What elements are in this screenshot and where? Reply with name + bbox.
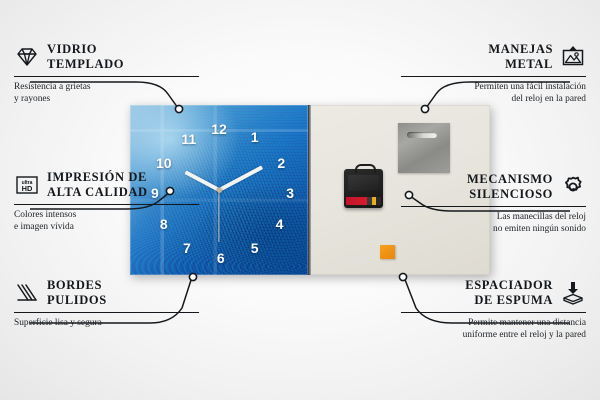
hanger-slot [407,132,437,138]
callout-description: Superficie lisa y segura [14,317,199,329]
desc-line-1: Resistencia a grietas [14,82,91,92]
callout-title: BORDES PULIDOS [47,278,107,308]
infographic-stage: 12 1 2 3 4 5 6 7 8 9 10 11 [0,0,600,400]
title-line-2: SILENCIOSO [469,187,553,201]
callout-rule [401,206,586,207]
desc-line-1: Superficie lisa y segura [14,318,102,328]
desc-line-1: Las manecillas del reloj [497,212,586,222]
clock-numeral-6: 6 [217,251,225,265]
title-line-1: IMPRESIÓN DE [47,170,147,184]
callout-espaciador-de-espuma: ESPACIADOR DE ESPUMA Permite mantener un… [401,278,586,341]
clock-numeral-5: 5 [251,241,259,255]
panel-seam [308,105,311,275]
callout-description: Permite mantener una distancia uniforme … [401,317,586,341]
title-line-2: METAL [505,57,553,71]
mechanism-hanging-loop [355,164,376,173]
callout-rule [14,312,199,313]
callout-impresion-alta-calidad: ultra HD IMPRESIÓN DE ALTA CALIDAD Color… [14,170,199,233]
title-line-1: MECANISMO [467,172,553,186]
clock-numeral-7: 7 [183,241,191,255]
clock-numeral-1: 1 [251,130,259,144]
title-line-1: ESPACIADOR [465,278,553,292]
desc-line-2: y rayones [14,94,50,104]
title-line-1: MANEJAS [488,42,553,56]
title-line-1: VIDRIO [47,42,97,56]
foam-spacer-icon [560,280,586,306]
desc-line-1: Permite mantener una distancia [468,318,586,328]
callout-title: IMPRESIÓN DE ALTA CALIDAD [47,170,148,200]
clock-mechanism [344,169,383,208]
callout-description: Resistencia a grietas y rayones [14,81,199,105]
desc-line-2: e imagen vívida [14,222,74,232]
clock-numeral-2: 2 [277,156,285,170]
picture-frame-icon [560,44,586,70]
callout-title: MECANISMO SILENCIOSO [467,172,553,202]
title-line-2: TEMPLADO [47,57,124,71]
callout-rule [14,76,199,77]
ultra-hd-icon: ultra HD [14,172,40,198]
clock-numeral-12: 12 [211,122,227,136]
svg-text:HD: HD [22,184,33,193]
callout-manejas-metal: MANEJAS METAL Permiten una fácil instala… [401,42,586,105]
desc-line-2: uniforme entre el reloj y la pared [463,330,586,340]
callout-bordes-pulidos: BORDES PULIDOS Superficie lisa y segura [14,278,199,329]
callout-rule [14,204,199,205]
clock-center-hub [217,188,222,193]
metal-hanger-plate [398,123,450,173]
desc-line-2: del reloj en la pared [512,94,586,104]
title-line-2: DE ESPUMA [474,293,553,307]
title-line-2: ALTA CALIDAD [47,185,148,199]
callout-description: Permiten una fácil instalación del reloj… [401,81,586,105]
polished-edges-icon [14,280,40,306]
callout-rule [401,76,586,77]
desc-line-1: Permiten una fácil instalación [474,82,586,92]
clock-numeral-3: 3 [286,186,294,200]
foam-spacer-pad [380,245,395,259]
callout-mecanismo-silencioso: MECANISMO SILENCIOSO Las manecillas del … [401,172,586,235]
desc-line-1: Colores intensos [14,210,76,220]
callout-description: Las manecillas del reloj no emiten ningú… [401,211,586,235]
callout-rule [401,312,586,313]
title-line-2: PULIDOS [47,293,107,307]
gear-icon [560,174,586,200]
title-line-1: BORDES [47,278,102,292]
mechanism-body [348,175,379,191]
callout-vidrio-templado: VIDRIO TEMPLADO Resistencia a grietas y … [14,42,199,105]
callout-title: VIDRIO TEMPLADO [47,42,124,72]
diamond-icon [14,44,40,70]
callout-title: ESPACIADOR DE ESPUMA [465,278,553,308]
desc-line-2: no emiten ningún sonido [493,224,586,234]
mechanism-battery-strip [346,197,381,205]
callout-title: MANEJAS METAL [488,42,553,72]
clock-numeral-10: 10 [156,156,172,170]
callout-description: Colores intensos e imagen vívida [14,209,199,233]
clock-numeral-4: 4 [276,217,284,231]
clock-numeral-11: 11 [181,132,196,146]
